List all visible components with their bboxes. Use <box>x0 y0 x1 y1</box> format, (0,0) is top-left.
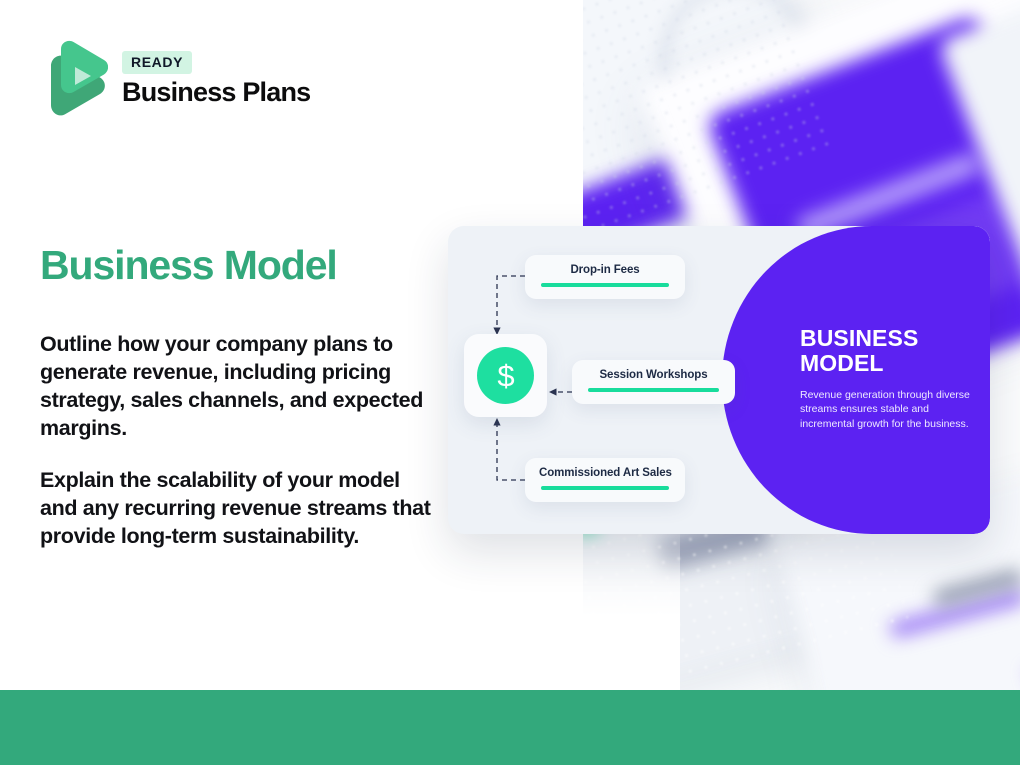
arrow-bottom-icon <box>493 418 500 426</box>
brand-logo-lockup[interactable]: READY Business Plans <box>40 40 310 118</box>
connector-bottom <box>497 425 525 480</box>
revenue-streams-diagram: $ Drop-in Fees Session Workshops Commiss… <box>448 226 808 534</box>
stream-label: Drop-in Fees <box>539 264 671 276</box>
preview-title: BUSINESS MODEL <box>800 326 986 376</box>
connector-top <box>497 276 525 328</box>
stream-label: Commissioned Art Sales <box>539 467 671 479</box>
slide-canvas: READY Business Plans Business Model Outl… <box>0 0 1020 765</box>
play-triangle-logo-icon <box>40 40 108 118</box>
backdrop-bottom-fade <box>430 520 680 695</box>
stream-node-commissioned-art-sales[interactable]: Commissioned Art Sales <box>525 458 685 502</box>
purple-copy-block: BUSINESS MODEL Revenue generation throug… <box>800 326 986 431</box>
stream-node-session-workshops[interactable]: Session Workshops <box>572 360 735 404</box>
stream-accent-bar <box>541 283 669 287</box>
brand-name: Business Plans <box>122 78 310 106</box>
footer-green-band <box>0 690 1020 765</box>
body-paragraph-1: Outline how your company plans to genera… <box>40 330 440 443</box>
stream-label: Session Workshops <box>586 369 721 381</box>
stream-accent-bar <box>588 388 719 392</box>
stream-node-drop-in-fees[interactable]: Drop-in Fees <box>525 255 685 299</box>
svg-text:$: $ <box>497 358 514 393</box>
revenue-hub: $ <box>464 334 547 417</box>
preview-description: Revenue generation through diverse strea… <box>800 388 986 431</box>
page-title: Business Model <box>40 243 337 288</box>
dollar-sign-icon: $ <box>477 347 534 404</box>
business-model-preview-card[interactable]: BUSINESS MODEL Revenue generation throug… <box>448 226 990 534</box>
arrow-middle-icon <box>549 388 557 395</box>
stream-accent-bar <box>541 486 669 490</box>
ready-badge: READY <box>122 51 192 74</box>
body-paragraph-2: Explain the scalability of your model an… <box>40 466 440 550</box>
brand-text-block: READY Business Plans <box>122 51 310 106</box>
